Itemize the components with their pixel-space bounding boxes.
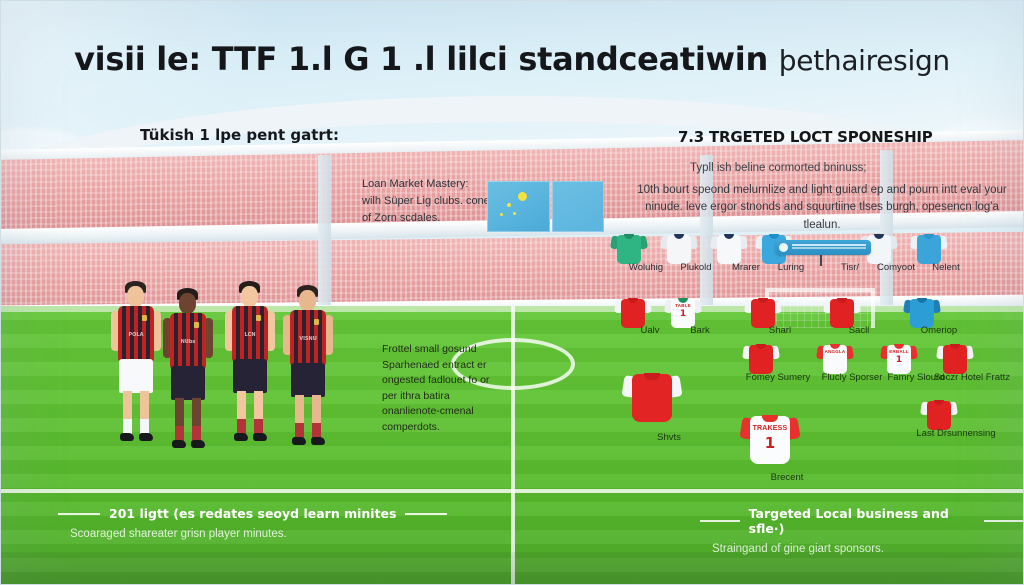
jersey-icon[interactable] [744,342,778,374]
flag-panel [487,181,550,232]
player-leg-left [295,395,304,425]
rule-left [58,513,100,515]
banner-text-lines [792,244,866,251]
jersey-icon[interactable]: TABLE1 [666,296,700,328]
jersey-body [717,235,741,264]
jersey-body [943,345,967,374]
jersey-label: Shvts [621,432,717,444]
player-figure[interactable]: LCN [222,281,278,449]
player-leg-left [123,391,132,421]
right-section-body: 10th bourt speond melurnlize and light g… [636,182,1008,234]
jersey-body [910,299,934,328]
scoreboard-banner[interactable] [775,240,871,255]
club-badge [256,315,261,321]
club-badge [194,322,199,328]
footer-right-sub: Straingand of gine giart sponsors. [712,542,1024,557]
jersey-icon[interactable]: TRAKESS1 [742,412,798,464]
jersey-body [830,299,854,328]
jersey-number: 1 [666,309,700,319]
star-icon [500,213,503,216]
jersey-icon[interactable] [612,232,646,264]
player-leg-right [140,391,149,421]
shirt-sponsor-text: POLA [118,332,154,338]
player-shorts [233,359,267,393]
rule-left [700,520,740,522]
jersey-icon[interactable] [616,296,650,328]
star-icon [513,212,516,215]
player-shorts [119,359,153,393]
jersey-icon[interactable]: ANGGLA [818,342,852,374]
jersey-brand-text: ERBALL [882,349,916,354]
club-badge [314,319,319,325]
player-shirt: LCN [232,306,268,362]
jersey-label: Last Drsunnensing [908,428,1004,440]
footer-left-sub: Scoaraged shareater grisn player minutes… [70,527,447,542]
jersey-body [927,401,951,430]
player-leg-right [254,391,263,421]
jersey-icon[interactable] [712,232,746,264]
footer-left-heading: 201 ligtt (es redates seoyd learn minite… [109,506,396,521]
player-boot-left [120,433,134,441]
shirt-sponsor-text: VISNU [290,336,326,342]
star-icon [507,203,511,207]
club-badge [142,315,147,321]
player-shirt: VISNU [290,310,326,366]
player-head [127,286,144,307]
flag-panel-secondary [552,181,604,232]
jersey-brand-text: TRAKESS [742,425,798,432]
jersey-number: 1 [882,355,916,365]
page-title: visii le: TTF 1.l G 1 .l lilci standceat… [0,40,1024,78]
jersey-icon[interactable] [662,232,696,264]
page-title-light: þethairesign [779,44,950,77]
player-head [299,290,316,311]
jersey-label: Omeriop [891,325,987,337]
pitch-annotation: Frottel small gosund Sparhenaed entract … [382,342,502,435]
jersey-body [667,235,691,264]
player-boot-right [311,437,325,445]
footer-right: Targeted Local business and sfle·) Strai… [700,506,1024,557]
jersey-body [751,299,775,328]
banner-post [820,255,822,266]
stand-pillar [318,155,331,305]
jersey-body [621,299,645,328]
jersey-icon[interactable] [922,398,956,430]
jersey-label: Soczr Hotel Frattz [924,372,1020,384]
jersey-body [917,235,941,264]
player-leg-left [175,398,184,428]
jersey-icon[interactable] [746,296,780,328]
jersey-body [749,345,773,374]
player-leg-right [312,395,321,425]
jersey-icon[interactable] [905,296,939,328]
footer-left-heading-row: 201 ligtt (es redates seoyd learn minite… [58,506,447,521]
pitch-shadow [0,552,1024,585]
infographic-stage: visii le: TTF 1.l G 1 .l lilci standceat… [0,0,1024,585]
left-section-heading: Tükish 1 lpe pent gatrt: [140,126,339,144]
jersey-label: Nelent [898,262,994,274]
page-title-bold: visii le: TTF 1.l G 1 .l lilci standceat… [74,40,768,78]
jersey-brand-text: TABLE [666,303,700,308]
player-leg-right [192,398,201,428]
player-shorts [171,366,205,400]
right-section-heading: 7.3 TRGETED LOCT SPONESHIP [678,128,933,146]
right-section-lead: Typll ish beline cormorted bninuss; [690,160,990,177]
footer-right-heading-row: Targeted Local business and sfle·) [700,506,1024,536]
pitch-far-line [0,489,1024,493]
shirt-sponsor-text: NUbs [170,339,206,345]
player-boot-left [172,440,186,448]
player-head [179,293,196,314]
player-boot-left [234,433,248,441]
footer-right-heading: Targeted Local business and sfle·) [749,506,976,536]
jersey-icon[interactable] [912,232,946,264]
jersey-number: 1 [742,434,798,452]
player-shirt: NUbs [170,313,206,369]
player-boot-right [139,433,153,441]
jersey-icon[interactable] [938,342,972,374]
player-head [241,286,258,307]
jersey-body [617,235,641,264]
player-figure[interactable]: VISNU [280,285,336,449]
player-shirt: POLA [118,306,154,362]
jersey-brand-text: ANGGLA [818,349,852,354]
shirt-sponsor-text: LCN [232,332,268,338]
player-figure[interactable]: POLA [108,281,164,449]
player-boot-right [191,440,205,448]
jersey-icon[interactable] [624,370,680,422]
jersey-icon[interactable] [825,296,859,328]
jersey-body [632,374,672,422]
loan-market-card: Loan Market Mastery: wilh Süper Lig club… [362,176,490,227]
footer-left: 201 ligtt (es redates seoyd learn minite… [58,506,447,542]
player-figure[interactable]: NUbs [160,288,216,450]
player-leg-left [237,391,246,421]
jersey-label: Brecent [739,472,835,484]
player-boot-left [292,437,306,445]
star-icon [518,192,527,201]
rule-right [984,520,1024,522]
jersey-icon[interactable]: ERBALL1 [882,342,916,374]
rule-right [405,513,447,515]
player-boot-right [253,433,267,441]
player-shorts [291,363,325,397]
banner-dot-icon [779,243,788,252]
